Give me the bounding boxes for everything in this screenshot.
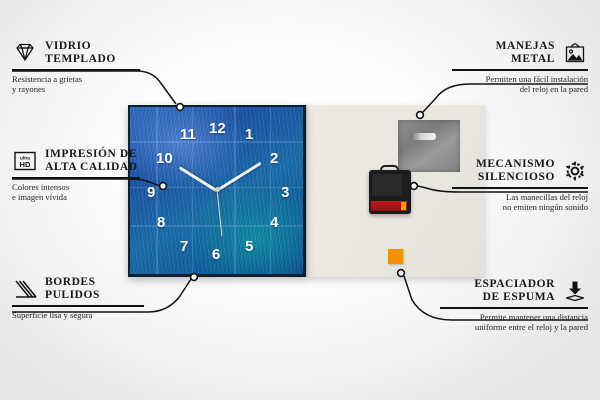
feature-title: BORDES	[45, 276, 100, 289]
feature-title: MANEJAS	[496, 40, 555, 53]
divider	[452, 187, 588, 189]
feature-impresion-alta-calidad: ultra HD IMPRESIÓN DE ALTA CALIDAD Color…	[12, 148, 140, 203]
clock-numeral: 3	[281, 185, 289, 200]
svg-text:HD: HD	[20, 160, 31, 169]
polished-edges-icon	[12, 278, 38, 300]
clock-numeral: 1	[245, 127, 253, 142]
feature-desc: Las manecillas del reloj	[452, 192, 588, 202]
divider	[12, 69, 140, 71]
feature-title: VIDRIO	[45, 40, 116, 53]
infographic-canvas: 12 1 2 3 4 5 6 7 8 9 10 11	[0, 0, 600, 400]
feature-vidrio-templado: VIDRIO TEMPLADO Resistencia a grietas y …	[12, 40, 140, 95]
feature-desc: del reloj en la pared	[452, 84, 588, 94]
divider	[12, 305, 144, 307]
clock-pivot	[215, 187, 220, 192]
clock-mechanism	[369, 170, 411, 214]
feature-title: MECANISMO	[476, 158, 555, 171]
hanger-slot	[410, 133, 436, 140]
feature-title: IMPRESIÓN DE	[45, 148, 138, 161]
feature-manejas-metal: MANEJAS METAL Permiten una fácil instala…	[452, 40, 588, 95]
clock-numeral: 4	[270, 215, 278, 230]
clock-numeral: 10	[156, 151, 173, 166]
down-arrow-spacer-icon	[562, 280, 588, 302]
feature-title: TEMPLADO	[45, 53, 116, 66]
foam-spacer	[388, 249, 403, 264]
wall-frame-icon	[562, 42, 588, 64]
clock-numeral: 2	[270, 151, 278, 166]
diamond-icon	[12, 42, 38, 64]
feature-desc: y rayones	[12, 84, 140, 94]
feature-desc: Colores intensos	[12, 182, 140, 192]
feature-bordes-pulidos: BORDES PULIDOS Superficie lisa y segura	[12, 276, 144, 320]
clock-numeral: 7	[180, 239, 188, 254]
clock-numeral: 9	[147, 185, 155, 200]
feature-mecanismo-silencioso: MECANISMO SILENCIOSO Las manecillas del …	[452, 158, 588, 213]
clock-numeral: 12	[209, 121, 226, 136]
feature-desc: no emiten ningún sonido	[452, 202, 588, 212]
feature-desc: Permite mantener una distancia	[440, 312, 588, 322]
second-hand	[216, 190, 222, 236]
feature-desc: Resistencia a grietas	[12, 74, 140, 84]
feature-title: PULIDOS	[45, 289, 100, 302]
clock-numeral: 8	[157, 215, 165, 230]
feature-title: SILENCIOSO	[476, 171, 555, 184]
feature-desc: Permiten una fácil instalación	[452, 74, 588, 84]
gear-icon	[562, 160, 588, 182]
wall-clock: 12 1 2 3 4 5 6 7 8 9 10 11	[128, 105, 306, 277]
feature-desc: Superficie lisa y segura	[12, 310, 144, 320]
mechanism-hook	[380, 165, 399, 172]
divider	[452, 69, 588, 71]
clock-face: 12 1 2 3 4 5 6 7 8 9 10 11	[130, 107, 303, 274]
feature-title: METAL	[496, 53, 555, 66]
ultra-hd-icon: ultra HD	[12, 150, 38, 172]
battery	[371, 201, 407, 211]
divider	[12, 177, 140, 179]
metal-hanger	[398, 120, 460, 172]
clock-numeral: 11	[180, 127, 196, 142]
clock-numeral: 5	[245, 239, 253, 254]
mechanism-body	[372, 174, 402, 196]
feature-espaciador-espuma: ESPACIADOR DE ESPUMA Permite mantener un…	[440, 278, 588, 333]
feature-desc: uniforme entre el reloj y la pared	[440, 322, 588, 332]
feature-desc: e imagen vívida	[12, 192, 140, 202]
clock-numeral: 6	[212, 247, 220, 262]
feature-title: ESPACIADOR	[474, 278, 555, 291]
feature-title: ALTA CALIDAD	[45, 161, 138, 174]
hour-hand	[179, 166, 218, 192]
feature-title: DE ESPUMA	[474, 291, 555, 304]
divider	[440, 307, 588, 309]
